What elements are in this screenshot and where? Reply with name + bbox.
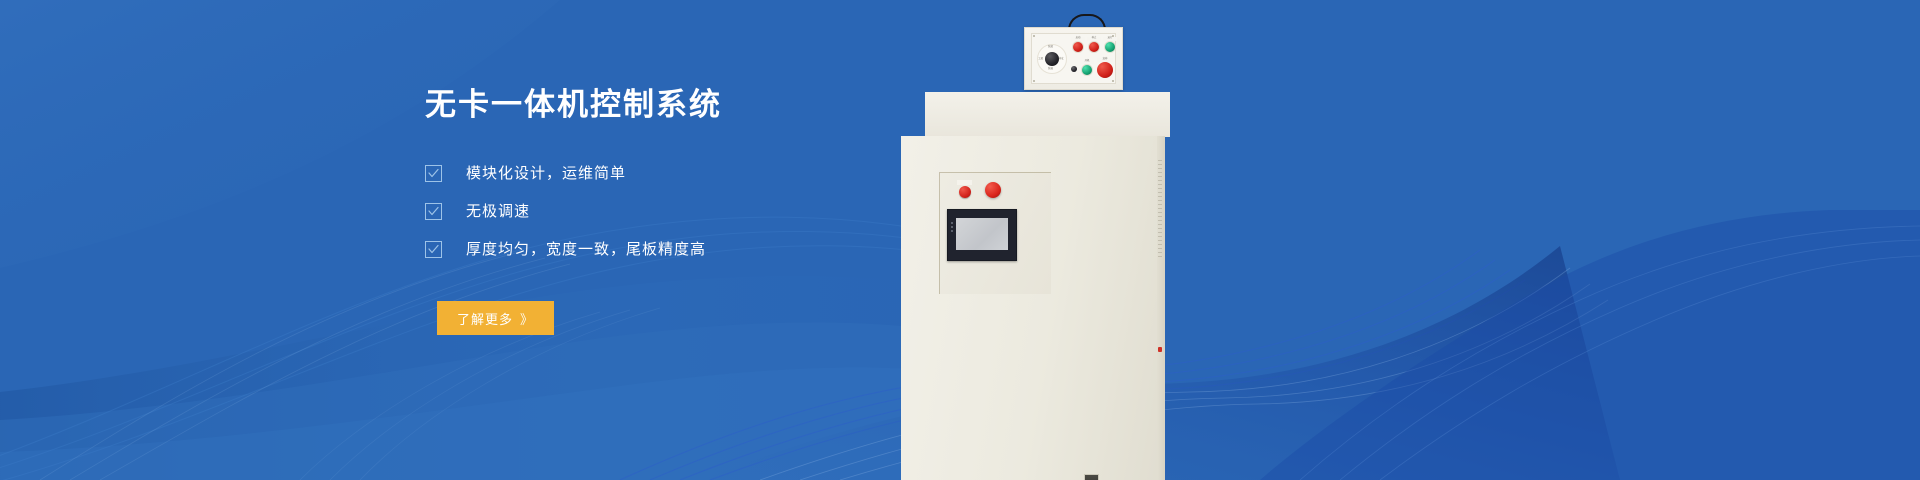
screw-icon <box>1033 35 1035 37</box>
screw-icon <box>1112 80 1114 82</box>
feature-item-1: 模块化设计，运维简单 <box>425 165 1065 182</box>
operator-control-panel: 快进 工进 停止 快退 启动 停止 运行 开机 急停 <box>1024 27 1123 90</box>
double-chevron-right-icon: 》 <box>520 309 534 328</box>
learn-more-label: 了解更多 <box>457 309 513 328</box>
hero-banner: 无卡一体机控制系统 模块化设计，运维简单 无极调速 <box>0 0 1920 480</box>
page-title: 无卡一体机控制系统 <box>425 86 1065 123</box>
checkbox-checked-icon <box>425 165 442 182</box>
knob-cap-icon <box>1045 52 1059 66</box>
panel-button-label: 运行 <box>1103 37 1117 41</box>
screw-icon <box>1033 80 1035 82</box>
panel-button-green-1[interactable] <box>1105 42 1115 52</box>
emergency-stop-button[interactable] <box>1097 62 1113 78</box>
panel-button-label: 开机 <box>1080 60 1094 64</box>
feature-label: 厚度均匀，宽度一致，尾板精度高 <box>466 242 706 257</box>
checkbox-checked-icon <box>425 203 442 220</box>
feature-label: 无极调速 <box>466 204 530 219</box>
door-handle[interactable] <box>1084 474 1099 480</box>
panel-button-green-2[interactable] <box>1082 65 1092 75</box>
panel-button-red-2[interactable] <box>1089 42 1099 52</box>
panel-button-label: 急停 <box>1097 58 1113 62</box>
feature-item-2: 无极调速 <box>425 203 1065 220</box>
rotary-selector-knob: 快进 工进 停止 快退 <box>1037 44 1067 74</box>
toggle-switch-icon[interactable] <box>1071 66 1077 72</box>
hero-copy: 无卡一体机控制系统 模块化设计，运维简单 无极调速 <box>425 86 1065 335</box>
panel-button-label: 停止 <box>1087 37 1101 41</box>
learn-more-button[interactable]: 了解更多 》 <box>437 301 554 335</box>
checkbox-checked-icon <box>425 241 442 258</box>
feature-label: 模块化设计，运维简单 <box>466 166 626 181</box>
feature-item-3: 厚度均匀，宽度一致，尾板精度高 <box>425 241 1065 258</box>
side-indicator-light <box>1158 347 1162 352</box>
feature-list: 模块化设计，运维简单 无极调速 厚度均匀，宽度一致，尾板精度高 <box>425 165 1065 258</box>
panel-button-red-1[interactable] <box>1073 42 1083 52</box>
ventilation-slots <box>1158 160 1162 260</box>
panel-button-label: 启动 <box>1071 37 1085 41</box>
